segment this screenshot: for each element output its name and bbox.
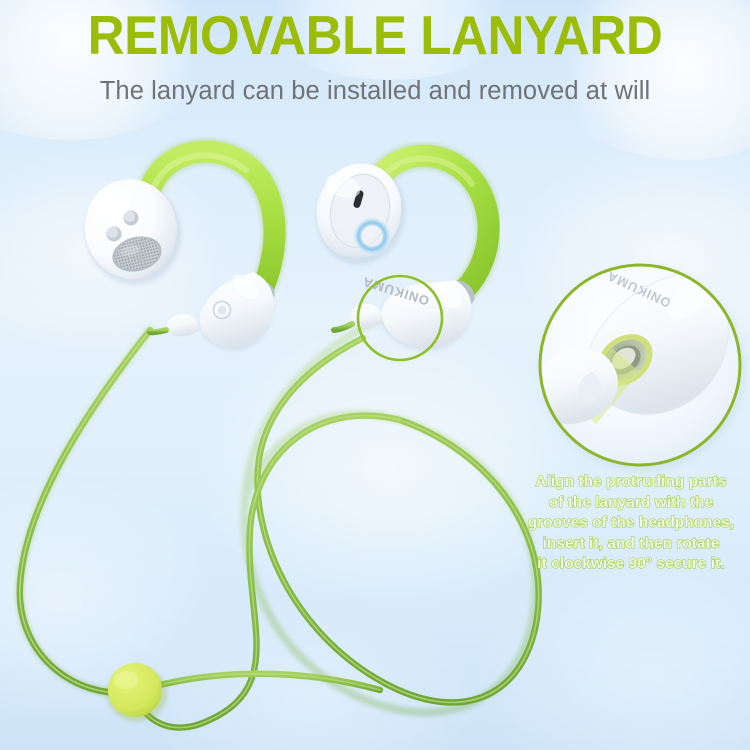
page-subtitle: The lanyard can be installed and removed… [0,77,750,106]
led-ring-button[interactable] [352,216,392,256]
instruction-text: Align the protruding parts of the lanyar… [512,472,750,575]
product-infographic: ONIKUMA ONIKUMA [0,0,750,750]
left-lanyard-nub [166,314,200,337]
cord-lock-bead [107,663,167,722]
right-earbud: ONIKUMA [306,154,488,351]
left-battery-pod [166,270,274,351]
instruction-line-1: Align the protruding parts [512,472,750,493]
instruction-line-4: insert it, and then rotate [512,534,750,555]
instruction-line-3: grooves of the headphones, [512,513,750,534]
page-title: REMOVABLE LANYARD [26,6,724,64]
right-battery-pod: ONIKUMA [350,274,471,351]
product-illustration: ONIKUMA ONIKUMA [0,0,750,750]
instruction-line-5: it clockwise 90° secure it. [512,554,750,575]
left-earbud [75,151,277,350]
lanyard-cord [20,318,539,728]
magnified-detail-circle: ONIKUMA [492,265,745,471]
instruction-line-2: of the lanyard with the [512,493,750,514]
